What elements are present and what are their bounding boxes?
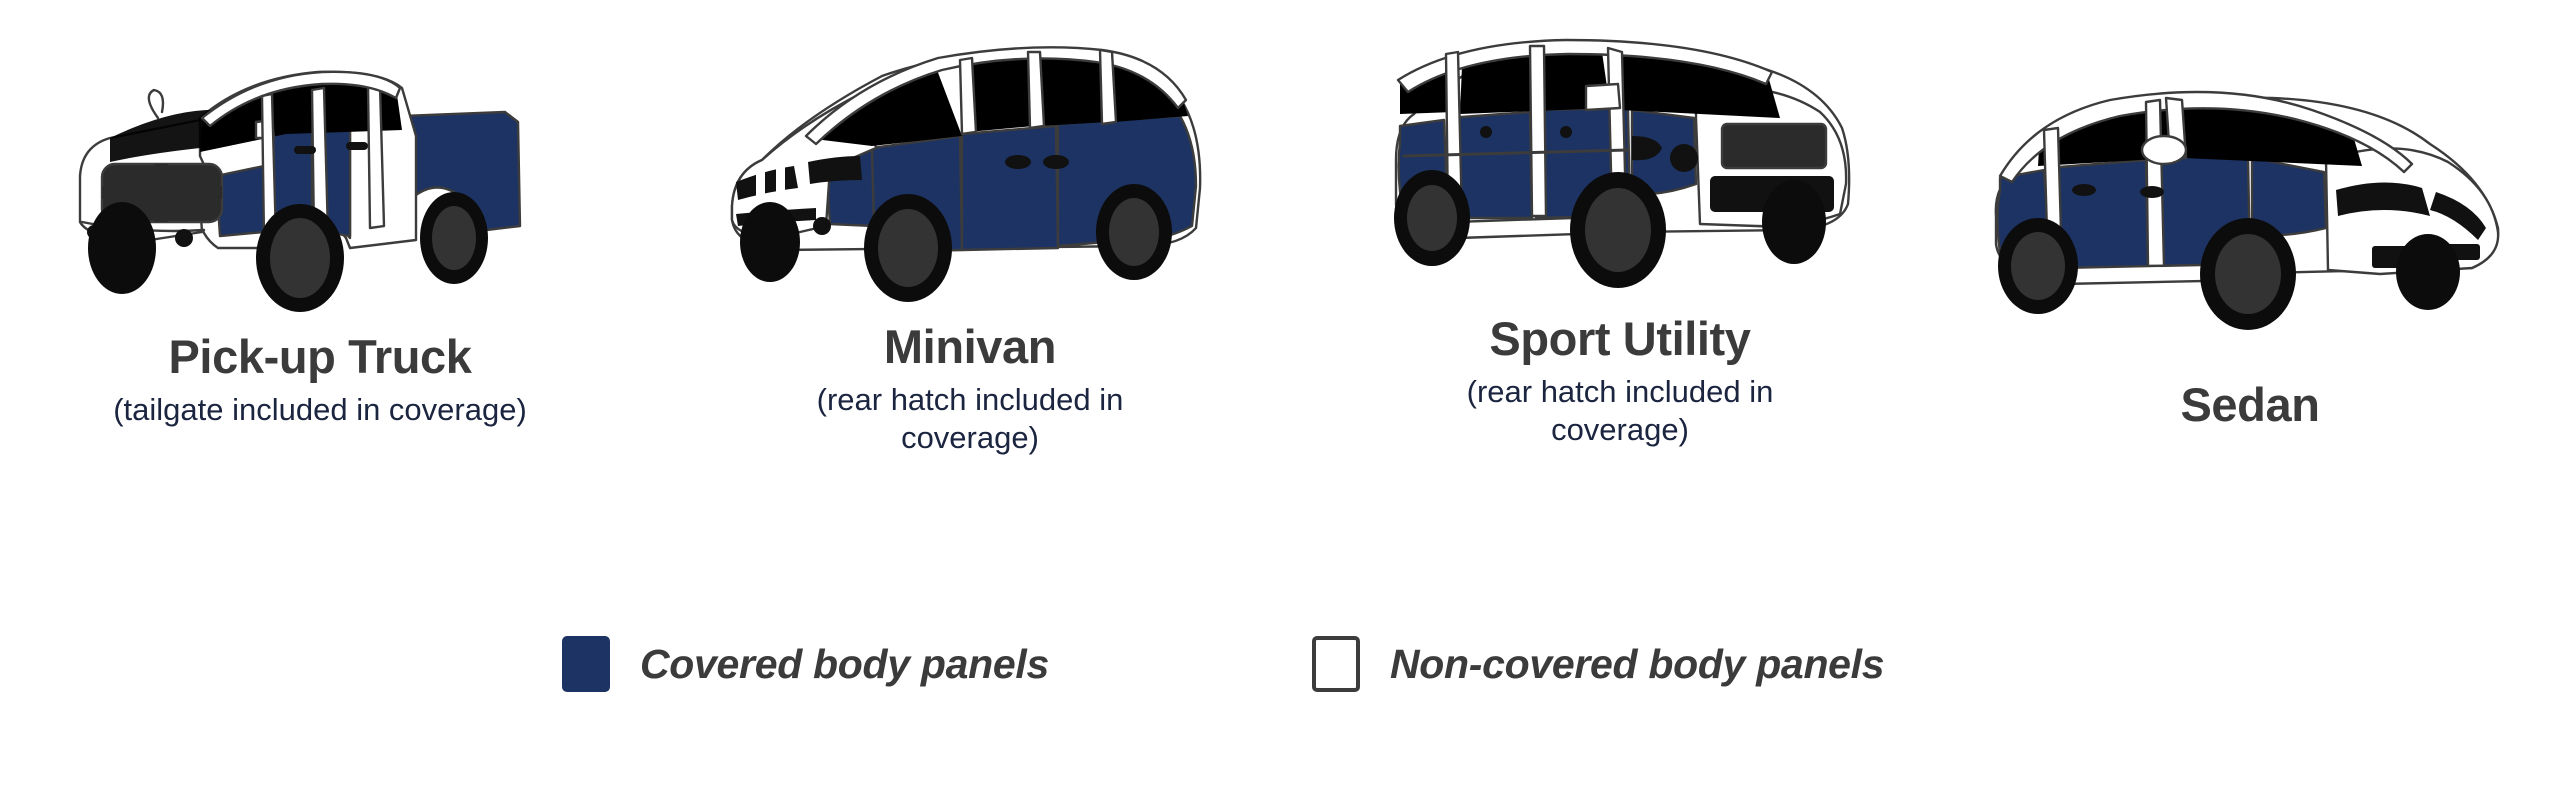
pick-up-truck-subtitle: (tailgate included in coverage) <box>113 391 527 429</box>
suv-front-door-handle <box>1560 126 1572 138</box>
minivan-grille-bar-right <box>776 164 785 196</box>
minivan-sliding-door-panel <box>962 126 1058 250</box>
suv-front-hub <box>1585 188 1651 272</box>
sport-utility-caption: Sport Utility (rear hatch included in co… <box>1410 314 1830 448</box>
legend-label-covered: Covered body panels <box>640 641 1049 688</box>
truck-far-front-wheel <box>88 202 156 294</box>
truck-foglamp-right <box>175 229 193 247</box>
suv-side-mirror <box>1586 84 1620 110</box>
sedan-caption: Sedan <box>2180 380 2319 430</box>
minivan-caption: Minivan (rear hatch included in coverage… <box>760 322 1180 456</box>
sedan-far-front-wheel <box>2396 234 2460 310</box>
sedan-front-door-handle <box>2140 186 2164 198</box>
legend-item-covered: Covered body panels <box>562 636 1049 692</box>
truck-front-door-handle <box>294 146 316 154</box>
minivan-grille-bar-left <box>756 166 765 198</box>
vehicle-card-minivan: Minivan (rear hatch included in coverage… <box>640 0 1300 456</box>
truck-c-pillar <box>368 86 384 228</box>
sport-utility-subtitle: (rear hatch included in coverage) <box>1410 373 1830 449</box>
truck-rear-door-glass <box>326 88 372 130</box>
sedan-rear-hub <box>2011 232 2065 300</box>
vehicle-card-pick-up-truck: Pick-up Truck (tailgate included in cove… <box>0 0 640 429</box>
minivan-title: Minivan <box>760 322 1180 372</box>
legend-item-non-covered: Non-covered body panels <box>1312 636 1884 692</box>
truck-front-door-glass <box>270 92 314 134</box>
minivan-a-pillar <box>960 58 976 134</box>
vehicle-row: Pick-up Truck (tailgate included in cove… <box>0 0 2560 560</box>
minivan-sliding-door-handle <box>1043 155 1069 169</box>
suv-rear-hub <box>1407 185 1457 251</box>
sedan-side-mirror <box>2142 136 2186 164</box>
pick-up-truck-title: Pick-up Truck <box>113 332 527 382</box>
sedan-rear-door-handle <box>2072 184 2096 196</box>
minivan-subtitle: (rear hatch included in coverage) <box>760 381 1180 457</box>
vehicle-card-sedan: Sedan <box>1940 0 2560 430</box>
sport-utility-illustration <box>1370 8 1870 308</box>
minivan-front-hub <box>878 209 938 287</box>
suv-side-marker-lamp <box>1670 144 1698 172</box>
truck-antenna <box>149 90 163 118</box>
sedan-front-hub <box>2215 234 2281 314</box>
minivan-rear-hub <box>1109 198 1159 266</box>
suv-grille <box>1722 124 1826 168</box>
minivan-front-door-glass <box>968 54 1034 132</box>
sedan-title: Sedan <box>2180 380 2319 430</box>
truck-grille-cross-bar <box>102 186 222 199</box>
suv-far-front-wheel <box>1762 180 1826 264</box>
vehicle-coverage-diagram: Pick-up Truck (tailgate included in cove… <box>0 0 2560 811</box>
legend: Covered body panels Non-covered body pan… <box>0 636 2560 692</box>
truck-rear-hub <box>432 206 476 270</box>
non-covered-swatch-icon <box>1312 636 1360 692</box>
minivan-front-door-handle <box>1005 155 1031 169</box>
minivan-foglamp <box>813 217 831 235</box>
minivan-c-pillar <box>1100 50 1116 124</box>
sedan-illustration <box>1980 40 2520 340</box>
suv-rear-door-handle <box>1480 126 1492 138</box>
covered-swatch-icon <box>562 636 610 692</box>
sport-utility-title: Sport Utility <box>1410 314 1830 364</box>
suv-b-pillar <box>1530 46 1546 216</box>
truck-front-hub <box>270 218 330 298</box>
pick-up-truck-caption: Pick-up Truck (tailgate included in cove… <box>113 332 527 429</box>
minivan-b-pillar <box>1028 52 1044 128</box>
minivan-illustration <box>710 20 1230 320</box>
minivan-far-front-wheel <box>740 202 800 282</box>
legend-label-non-covered: Non-covered body panels <box>1390 641 1884 688</box>
pick-up-truck-illustration <box>50 26 590 326</box>
truck-rear-door-handle <box>346 142 368 150</box>
vehicle-card-sport-utility: Sport Utility (rear hatch included in co… <box>1300 0 1940 448</box>
sedan-b-pillar-lower <box>2146 100 2164 266</box>
minivan-sliding-door-glass <box>1038 54 1108 126</box>
